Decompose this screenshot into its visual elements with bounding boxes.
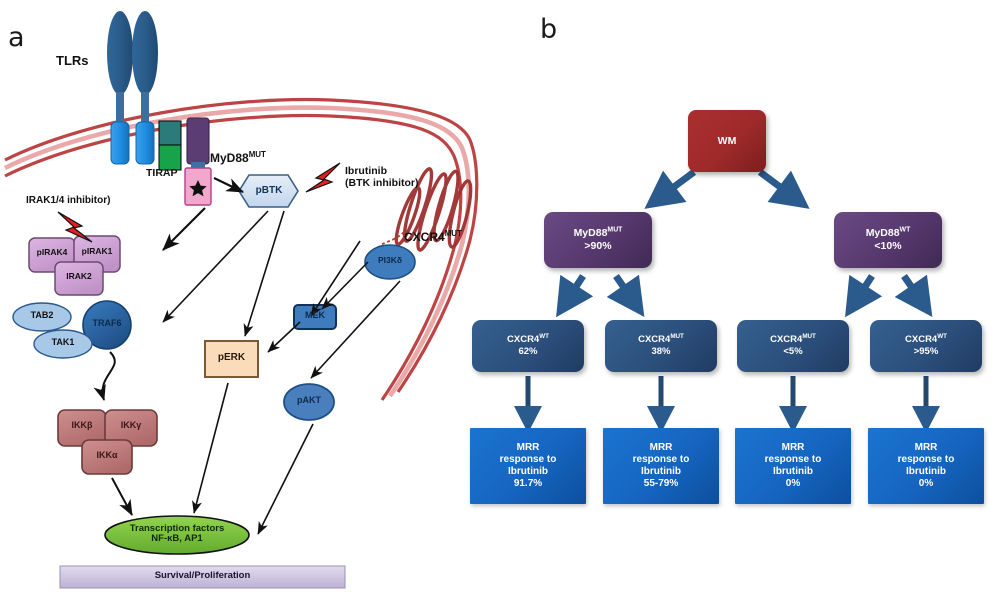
- node-mrr-0-right-text: MRR response to Ibrutinib 0%: [898, 442, 955, 491]
- node-cxcr4-mut-lt5[interactable]: CXCR4MUT <5%: [737, 320, 849, 372]
- panel-b-connectors: [0, 0, 1000, 598]
- node-myd88-wt-value: <10%: [874, 240, 901, 252]
- node-mrr-5579-text: MRR response to Ibrutinib 55-79%: [633, 442, 690, 491]
- node-mrr-0-right-line3: Ibrutinib: [906, 466, 946, 477]
- node-mrr-0-left-line3: Ibrutinib: [773, 466, 813, 477]
- node-cxcr4-wt-gt95-gene: CXCR4: [905, 334, 937, 345]
- panel-b-vertical-arrows: [528, 376, 926, 420]
- node-wm-label: WM: [718, 135, 737, 148]
- node-mrr-917-line1: MRR: [517, 442, 540, 453]
- node-cxcr4-wt-gt95-sup: WT: [937, 333, 947, 340]
- node-myd88-mut-sup: MUT: [607, 227, 622, 234]
- node-cxcr4-wt-62[interactable]: CXCR4WT 62%: [472, 320, 584, 372]
- node-myd88-mut-gene: MyD88: [574, 227, 608, 239]
- node-cxcr4-wt-62-gene: CXCR4: [507, 334, 539, 345]
- node-cxcr4-mut-38-gene: CXCR4: [638, 334, 670, 345]
- node-cxcr4-wt-gt95[interactable]: CXCR4WT >95%: [870, 320, 982, 372]
- node-myd88-mut[interactable]: MyD88MUT >90%: [544, 212, 652, 268]
- node-cxcr4-wt-62-sup: WT: [539, 333, 549, 340]
- node-mrr-0-left-line4: 0%: [786, 478, 800, 489]
- node-mrr-5579-line3: Ibrutinib: [641, 466, 681, 477]
- node-myd88-wt[interactable]: MyD88WT <10%: [834, 212, 942, 268]
- node-myd88-wt-text: MyD88WT <10%: [866, 227, 911, 253]
- node-mrr-0-left-text: MRR response to Ibrutinib 0%: [765, 442, 822, 491]
- node-myd88-mut-value: >90%: [584, 240, 611, 252]
- node-mrr-0-right[interactable]: MRR response to Ibrutinib 0%: [868, 428, 984, 504]
- node-cxcr4-wt-gt95-value: >95%: [914, 346, 939, 357]
- node-mrr-5579-line1: MRR: [650, 442, 673, 453]
- node-mrr-917[interactable]: MRR response to Ibrutinib 91.7%: [470, 428, 586, 504]
- node-mrr-917-line2: response to: [500, 454, 557, 465]
- node-cxcr4-mut-lt5-gene: CXCR4: [770, 334, 802, 345]
- node-cxcr4-wt-62-text: CXCR4WT 62%: [507, 334, 549, 357]
- figure-canvas: a: [0, 0, 1000, 598]
- node-cxcr4-mut-38-value: 38%: [651, 346, 670, 357]
- node-cxcr4-mut-lt5-text: CXCR4MUT <5%: [770, 334, 816, 357]
- node-cxcr4-mut-38[interactable]: CXCR4MUT 38%: [605, 320, 717, 372]
- node-mrr-0-left-line1: MRR: [782, 442, 805, 453]
- node-myd88-wt-gene: MyD88: [866, 227, 900, 239]
- node-cxcr4-mut-lt5-value: <5%: [783, 346, 802, 357]
- node-cxcr4-mut-lt5-sup: MUT: [802, 333, 816, 340]
- node-mrr-917-text: MRR response to Ibrutinib 91.7%: [500, 442, 557, 491]
- node-cxcr4-wt-62-value: 62%: [518, 346, 537, 357]
- node-mrr-917-line4: 91.7%: [514, 478, 542, 489]
- node-cxcr4-mut-38-text: CXCR4MUT 38%: [638, 334, 684, 357]
- node-mrr-0-right-line2: response to: [898, 454, 955, 465]
- node-wm[interactable]: WM: [688, 110, 766, 172]
- node-mrr-5579-line2: response to: [633, 454, 690, 465]
- node-cxcr4-wt-gt95-text: CXCR4WT >95%: [905, 334, 947, 357]
- node-mrr-917-line3: Ibrutinib: [508, 466, 548, 477]
- node-cxcr4-mut-38-sup: MUT: [670, 333, 684, 340]
- node-mrr-0-left[interactable]: MRR response to Ibrutinib 0%: [735, 428, 851, 504]
- node-mrr-0-right-line4: 0%: [919, 478, 933, 489]
- node-myd88-wt-sup: WT: [900, 227, 911, 234]
- node-mrr-5579-line4: 55-79%: [644, 478, 678, 489]
- node-myd88-mut-text: MyD88MUT >90%: [574, 227, 623, 253]
- node-mrr-0-left-line2: response to: [765, 454, 822, 465]
- node-mrr-0-right-line1: MRR: [915, 442, 938, 453]
- node-mrr-5579[interactable]: MRR response to Ibrutinib 55-79%: [603, 428, 719, 504]
